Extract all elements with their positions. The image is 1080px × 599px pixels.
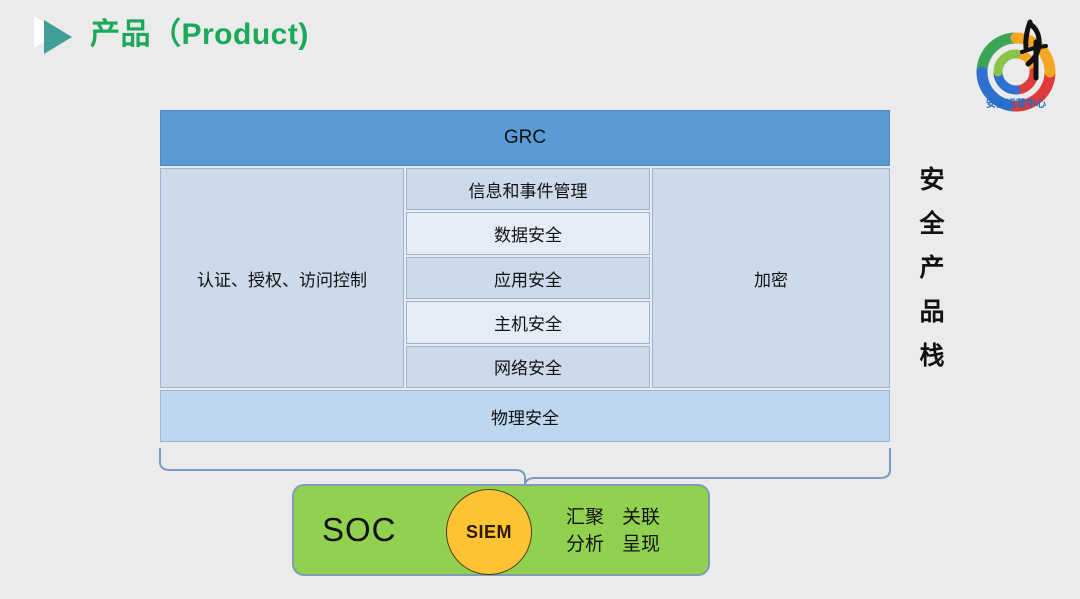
layer-label: 信息和事件管理 bbox=[469, 177, 588, 202]
layer-box-host-security: 主机安全 bbox=[406, 301, 650, 343]
security-product-stack: GRC 认证、授权、访问控制 信息和事件管理 数据安全 应用安全 主机安全 网络… bbox=[160, 110, 890, 447]
soc-keyword-column-correlate: 关联 呈现 bbox=[622, 504, 660, 558]
stack-middle-region: 认证、授权、访问控制 信息和事件管理 数据安全 应用安全 主机安全 网络安全 加… bbox=[160, 168, 890, 388]
layer-label: 主机安全 bbox=[494, 310, 562, 335]
stack-header-grc: GRC bbox=[160, 110, 890, 166]
siem-badge[interactable]: SIEM bbox=[446, 489, 532, 575]
stack-layer-column: 信息和事件管理 数据安全 应用安全 主机安全 网络安全 bbox=[406, 168, 650, 388]
brand-logo: 安全运营中心 bbox=[970, 8, 1062, 112]
soc-keyword-column-aggregate: 汇聚 分析 bbox=[566, 504, 604, 558]
page-title: 产品（Product) bbox=[90, 20, 309, 50]
layer-box-data-security: 数据安全 bbox=[406, 212, 650, 254]
soc-panel[interactable]: SOC SIEM 汇聚 分析 关联 呈现 bbox=[292, 484, 710, 576]
layer-box-app-security: 应用安全 bbox=[406, 257, 650, 299]
logo-subtitle: 安全运营中心 bbox=[986, 97, 1046, 110]
layer-label: 应用安全 bbox=[494, 266, 562, 291]
soc-label: SOC bbox=[322, 511, 397, 549]
grc-label: GRC bbox=[504, 127, 546, 149]
siem-label: SIEM bbox=[466, 522, 512, 543]
stack-vertical-caption: 安 全 产 品 栈 bbox=[912, 158, 952, 378]
brace-connector bbox=[158, 446, 892, 488]
keyword-bottom: 分析 bbox=[566, 531, 604, 558]
layer-label: 网络安全 bbox=[494, 354, 562, 379]
stack-right-column-encryption: 加密 bbox=[652, 168, 890, 388]
layer-box-siem: 信息和事件管理 bbox=[406, 168, 650, 210]
layer-box-network-security: 网络安全 bbox=[406, 346, 650, 388]
caption-char: 产 bbox=[912, 246, 952, 290]
slide-title-row: 产品（Product) bbox=[30, 14, 309, 56]
play-triangle-icon bbox=[30, 14, 74, 56]
caption-char: 栈 bbox=[912, 334, 952, 378]
keyword-top: 关联 bbox=[622, 504, 660, 531]
caption-char: 安 bbox=[912, 158, 952, 202]
auth-label: 认证、授权、访问控制 bbox=[197, 266, 367, 291]
soc-keyword-group: 汇聚 分析 关联 呈现 bbox=[566, 504, 660, 558]
encryption-label: 加密 bbox=[754, 266, 788, 291]
stack-left-column-auth: 认证、授权、访问控制 bbox=[160, 168, 404, 388]
stack-footer-physical-security: 物理安全 bbox=[160, 390, 890, 442]
layer-label: 数据安全 bbox=[494, 221, 562, 246]
physical-label: 物理安全 bbox=[491, 404, 559, 429]
keyword-bottom: 呈现 bbox=[622, 531, 660, 558]
keyword-top: 汇聚 bbox=[566, 504, 604, 531]
caption-char: 品 bbox=[912, 290, 952, 334]
caption-char: 全 bbox=[912, 202, 952, 246]
